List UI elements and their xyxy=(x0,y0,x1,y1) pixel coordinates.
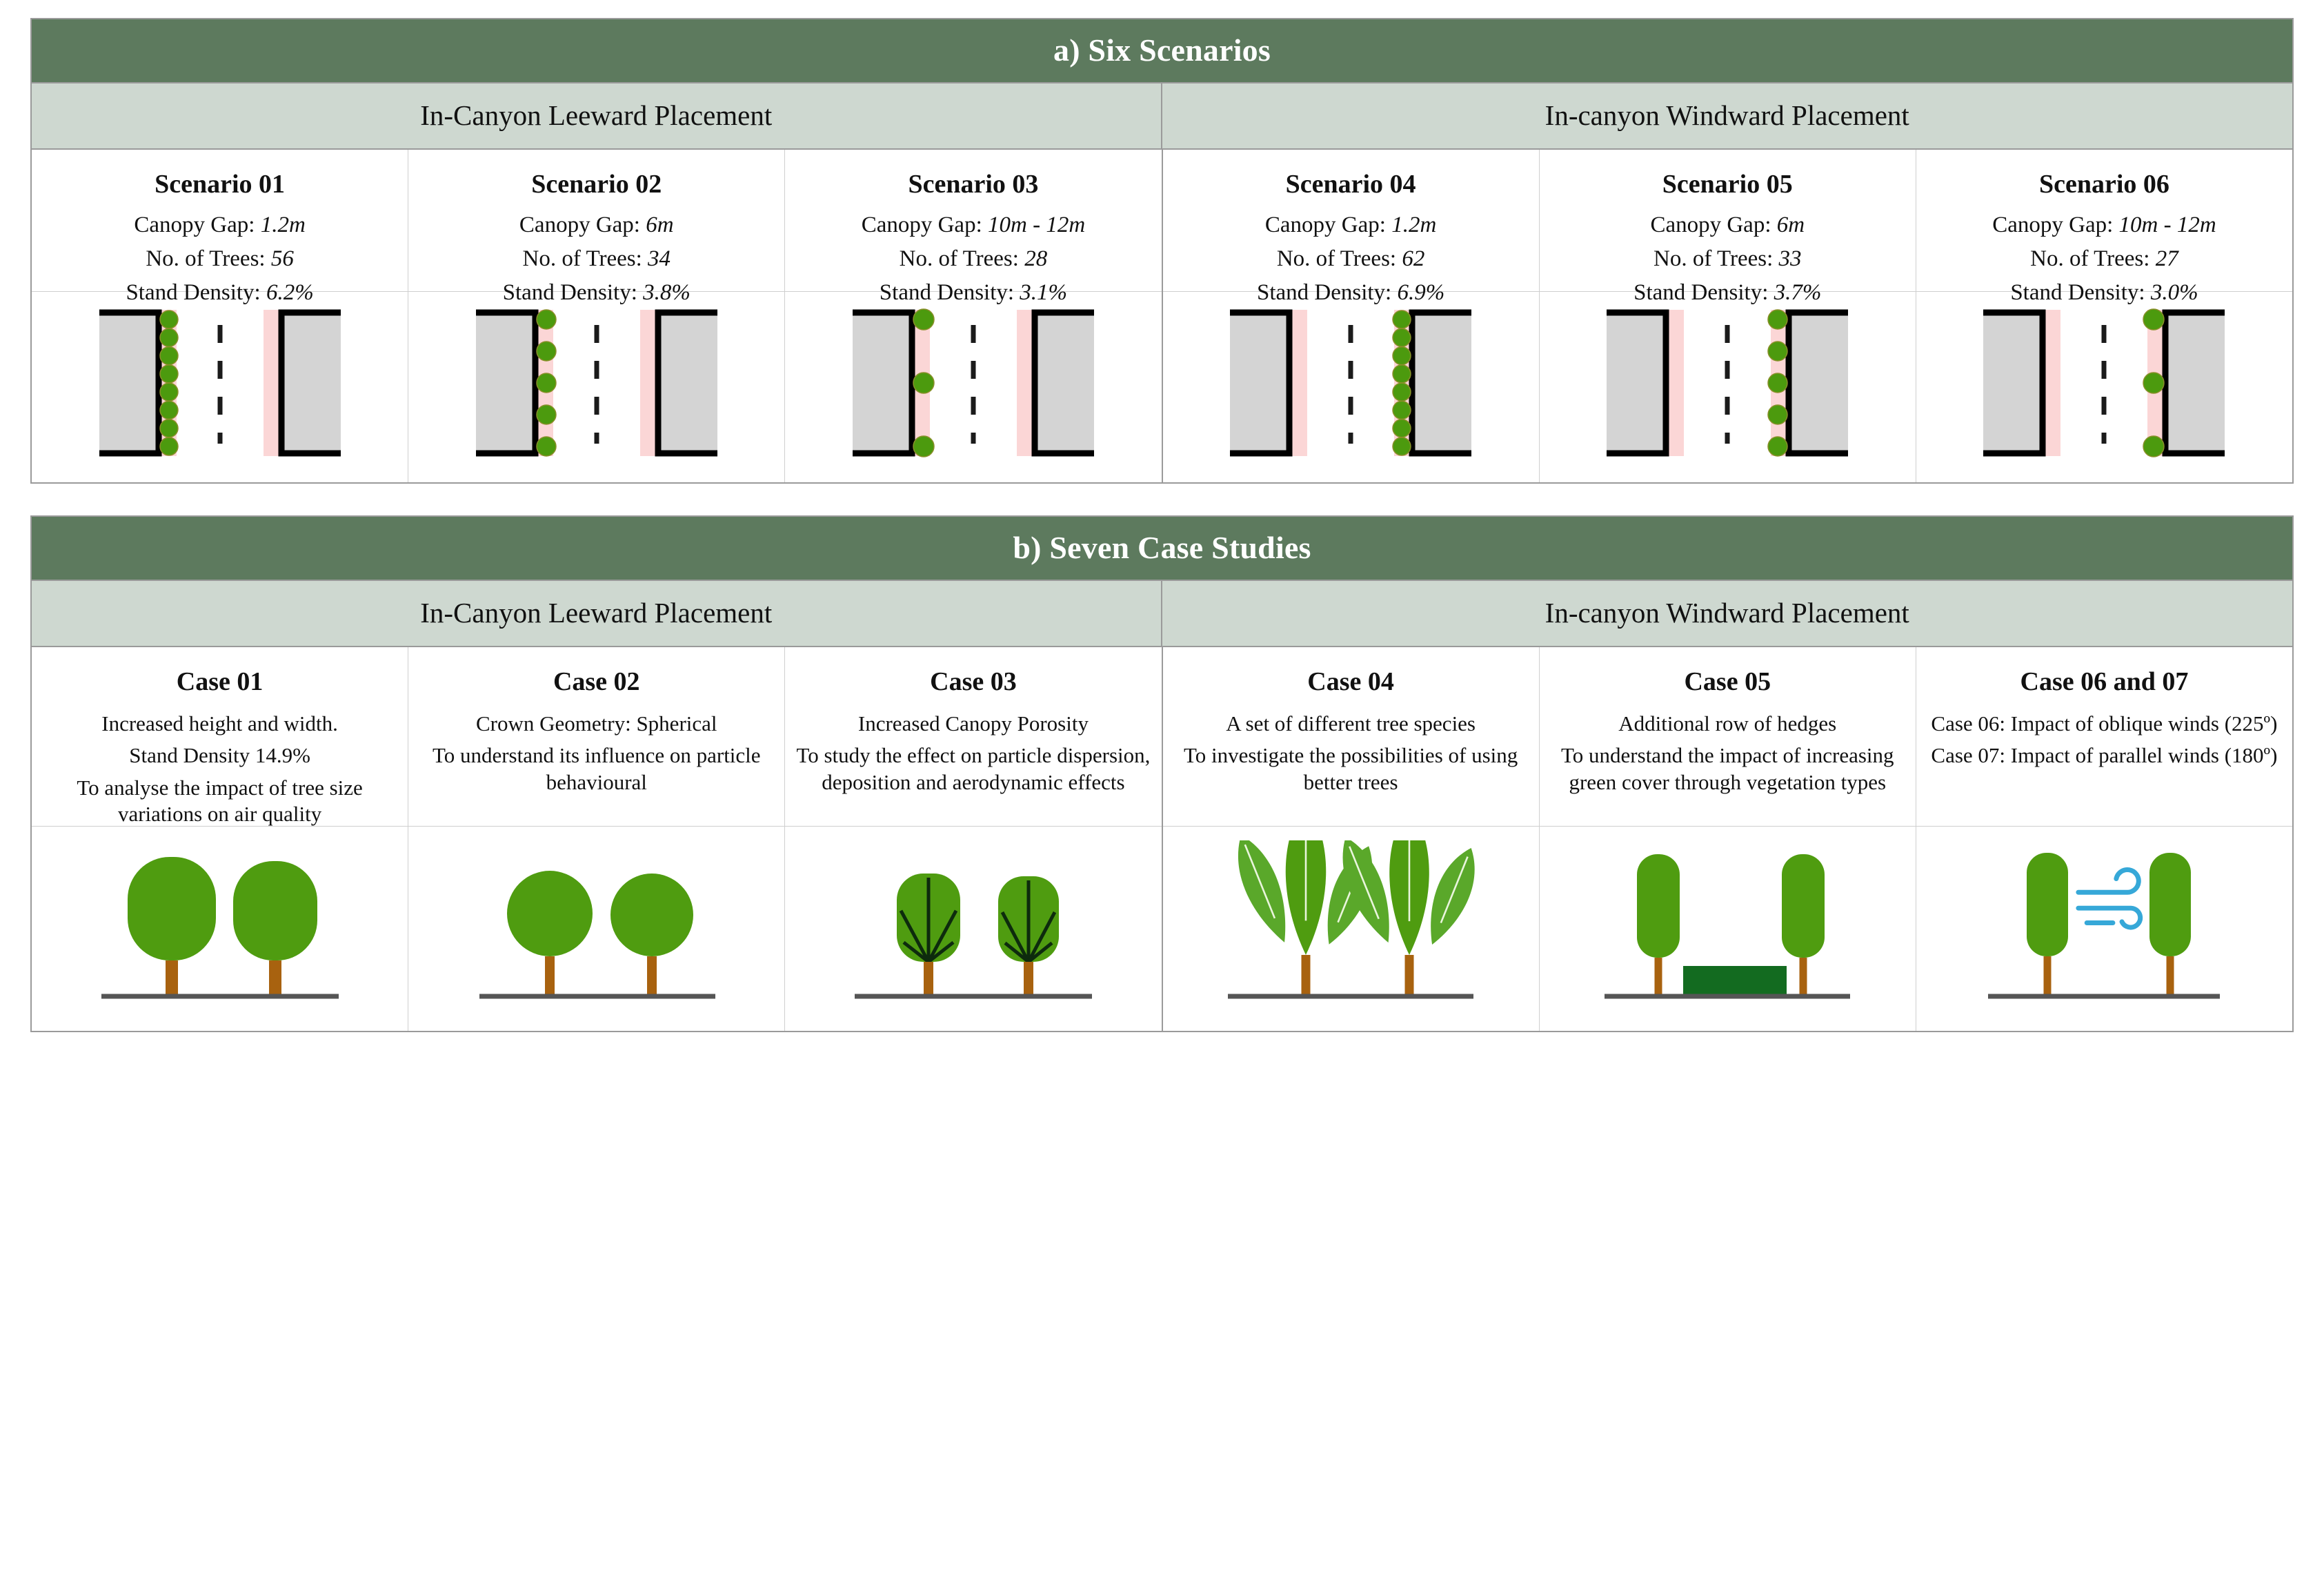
scenario-no-of-trees: No. of Trees: 34 xyxy=(418,244,775,274)
canopy-gap-value: 6m xyxy=(646,213,673,237)
scenario-canopy-gap: Canopy Gap: 10m - 12m xyxy=(795,210,1151,240)
street-canyon-diagram-4 xyxy=(1163,292,1539,482)
case-figure-2 xyxy=(408,827,784,1031)
canopy-gap-label: Canopy Gap: xyxy=(134,213,255,237)
case-column-6: Case 06 and 07 Case 06: Impact of obliqu… xyxy=(1916,647,2292,1031)
no-of-trees-label: No. of Trees: xyxy=(1277,246,1396,271)
no-of-trees-value: 34 xyxy=(648,246,671,271)
case-column-3: Case 03 Increased Canopy PorosityTo stud… xyxy=(785,647,1162,1031)
scenario-column-5: Scenario 05 Canopy Gap: 6m No. of Trees:… xyxy=(1540,150,1916,482)
canopy-gap-value: 1.2m xyxy=(261,213,306,237)
case-info-5: Case 05 Additional row of hedgesTo under… xyxy=(1540,647,1916,827)
no-of-trees-value: 62 xyxy=(1402,246,1424,271)
case-figure-5 xyxy=(1540,827,1916,1031)
no-of-trees-label: No. of Trees: xyxy=(522,246,642,271)
no-of-trees-value: 28 xyxy=(1024,246,1047,271)
canopy-gap-label: Canopy Gap: xyxy=(1265,213,1386,237)
case-title: Case 05 xyxy=(1549,667,1906,697)
scenario-column-4: Scenario 04 Canopy Gap: 1.2m No. of Tree… xyxy=(1163,150,1540,482)
case-title: Case 03 xyxy=(795,667,1151,697)
case-info-6: Case 06 and 07 Case 06: Impact of obliqu… xyxy=(1916,647,2292,827)
case-column-5: Case 05 Additional row of hedgesTo under… xyxy=(1540,647,1916,1031)
street-canyon-diagram-6 xyxy=(1916,292,2292,482)
street-canyon-diagram-1 xyxy=(32,292,408,482)
scenario-no-of-trees: No. of Trees: 56 xyxy=(41,244,398,274)
scenario-no-of-trees: No. of Trees: 33 xyxy=(1549,244,1906,274)
case-line: Stand Density 14.9% xyxy=(41,742,398,769)
street-canyon-diagram-2 xyxy=(408,292,784,482)
case-line: Additional row of hedges xyxy=(1549,711,1906,737)
scenario-canopy-gap: Canopy Gap: 6m xyxy=(1549,210,1906,240)
scenario-no-of-trees: No. of Trees: 28 xyxy=(795,244,1151,274)
panel-seven-case-studies: b) Seven Case Studies In-Canyon Leeward … xyxy=(30,515,2294,1032)
case-column-2: Case 02 Crown Geometry: SphericalTo unde… xyxy=(408,647,785,1031)
case-title: Case 04 xyxy=(1173,667,1529,697)
case-line: To investigate the possibilities of usin… xyxy=(1173,742,1529,796)
case-line: To understand the impact of increasing g… xyxy=(1549,742,1906,796)
case-line: Crown Geometry: Spherical xyxy=(418,711,775,737)
scenario-no-of-trees: No. of Trees: 62 xyxy=(1173,244,1529,274)
scenario-title: Scenario 06 xyxy=(1926,169,2283,199)
group-header-leeward-b: In-Canyon Leeward Placement xyxy=(32,581,1162,646)
case-column-4: Case 04 A set of different tree speciesT… xyxy=(1163,647,1540,1031)
canopy-gap-value: 10m - 12m xyxy=(2119,213,2216,237)
scenario-info-4: Scenario 04 Canopy Gap: 1.2m No. of Tree… xyxy=(1163,150,1539,292)
case-figure-4 xyxy=(1163,827,1539,1031)
scenario-canopy-gap: Canopy Gap: 10m - 12m xyxy=(1926,210,2283,240)
panel-a-banner: a) Six Scenarios xyxy=(32,19,2292,83)
street-canyon-diagram-3 xyxy=(785,292,1161,482)
canopy-gap-label: Canopy Gap: xyxy=(862,213,982,237)
case-info-4: Case 04 A set of different tree speciesT… xyxy=(1163,647,1539,827)
panel-b-banner: b) Seven Case Studies xyxy=(32,517,2292,581)
no-of-trees-label: No. of Trees: xyxy=(1653,246,1773,271)
scenario-title: Scenario 03 xyxy=(795,169,1151,199)
scenario-info-1: Scenario 01 Canopy Gap: 1.2m No. of Tree… xyxy=(32,150,408,292)
case-line: A set of different tree species xyxy=(1173,711,1529,737)
scenario-title: Scenario 05 xyxy=(1549,169,1906,199)
no-of-trees-value: 27 xyxy=(2156,246,2178,271)
canopy-gap-label: Canopy Gap: xyxy=(1650,213,1771,237)
case-title: Case 02 xyxy=(418,667,775,697)
no-of-trees-value: 56 xyxy=(271,246,294,271)
case-line: Case 07: Impact of parallel winds (180º) xyxy=(1926,742,2283,769)
group-header-windward-a: In-canyon Windward Placement xyxy=(1162,83,2293,148)
scenario-canopy-gap: Canopy Gap: 1.2m xyxy=(41,210,398,240)
case-line: To study the effect on particle dispersi… xyxy=(795,742,1151,796)
group-header-windward-b: In-canyon Windward Placement xyxy=(1162,581,2293,646)
panel-b-group-headers: In-Canyon Leeward Placement In-canyon Wi… xyxy=(32,581,2292,647)
scenario-column-3: Scenario 03 Canopy Gap: 10m - 12m No. of… xyxy=(785,150,1162,482)
canopy-gap-value: 6m xyxy=(1777,213,1805,237)
case-column-1: Case 01 Increased height and width.Stand… xyxy=(32,647,408,1031)
scenario-title: Scenario 04 xyxy=(1173,169,1529,199)
scenario-title: Scenario 02 xyxy=(418,169,775,199)
case-line: Increased Canopy Porosity xyxy=(795,711,1151,737)
figure-page: a) Six Scenarios In-Canyon Leeward Place… xyxy=(0,0,2324,1569)
scenario-no-of-trees: No. of Trees: 27 xyxy=(1926,244,2283,274)
scenario-canopy-gap: Canopy Gap: 6m xyxy=(418,210,775,240)
canopy-gap-label: Canopy Gap: xyxy=(1992,213,2113,237)
group-header-leeward-a: In-Canyon Leeward Placement xyxy=(32,83,1162,148)
case-figure-6 xyxy=(1916,827,2292,1031)
no-of-trees-label: No. of Trees: xyxy=(2030,246,2149,271)
case-line: Increased height and width. xyxy=(41,711,398,737)
street-canyon-diagram-5 xyxy=(1540,292,1916,482)
case-columns: Case 01 Increased height and width.Stand… xyxy=(32,647,2292,1031)
case-info-3: Case 03 Increased Canopy PorosityTo stud… xyxy=(785,647,1161,827)
no-of-trees-value: 33 xyxy=(1779,246,1802,271)
case-line: Case 06: Impact of oblique winds (225º) xyxy=(1926,711,2283,737)
scenario-columns: Scenario 01 Canopy Gap: 1.2m No. of Tree… xyxy=(32,150,2292,482)
case-title: Case 06 and 07 xyxy=(1926,667,2283,697)
canopy-gap-value: 1.2m xyxy=(1391,213,1436,237)
scenario-info-3: Scenario 03 Canopy Gap: 10m - 12m No. of… xyxy=(785,150,1161,292)
scenario-info-6: Scenario 06 Canopy Gap: 10m - 12m No. of… xyxy=(1916,150,2292,292)
scenario-title: Scenario 01 xyxy=(41,169,398,199)
case-figure-1 xyxy=(32,827,408,1031)
scenario-column-2: Scenario 02 Canopy Gap: 6m No. of Trees:… xyxy=(408,150,785,482)
case-line: To understand its influence on particle … xyxy=(418,742,775,796)
no-of-trees-label: No. of Trees: xyxy=(900,246,1019,271)
canopy-gap-label: Canopy Gap: xyxy=(519,213,640,237)
scenario-column-1: Scenario 01 Canopy Gap: 1.2m No. of Tree… xyxy=(32,150,408,482)
canopy-gap-value: 10m - 12m xyxy=(988,213,1085,237)
scenario-column-6: Scenario 06 Canopy Gap: 10m - 12m No. of… xyxy=(1916,150,2292,482)
scenario-info-5: Scenario 05 Canopy Gap: 6m No. of Trees:… xyxy=(1540,150,1916,292)
scenario-canopy-gap: Canopy Gap: 1.2m xyxy=(1173,210,1529,240)
no-of-trees-label: No. of Trees: xyxy=(146,246,265,271)
case-title: Case 01 xyxy=(41,667,398,697)
scenario-info-2: Scenario 02 Canopy Gap: 6m No. of Trees:… xyxy=(408,150,784,292)
case-info-1: Case 01 Increased height and width.Stand… xyxy=(32,647,408,827)
panel-a-group-headers: In-Canyon Leeward Placement In-canyon Wi… xyxy=(32,83,2292,150)
case-line: To analyse the impact of tree size varia… xyxy=(41,775,398,828)
case-info-2: Case 02 Crown Geometry: SphericalTo unde… xyxy=(408,647,784,827)
panel-six-scenarios: a) Six Scenarios In-Canyon Leeward Place… xyxy=(30,18,2294,484)
case-figure-3 xyxy=(785,827,1161,1031)
